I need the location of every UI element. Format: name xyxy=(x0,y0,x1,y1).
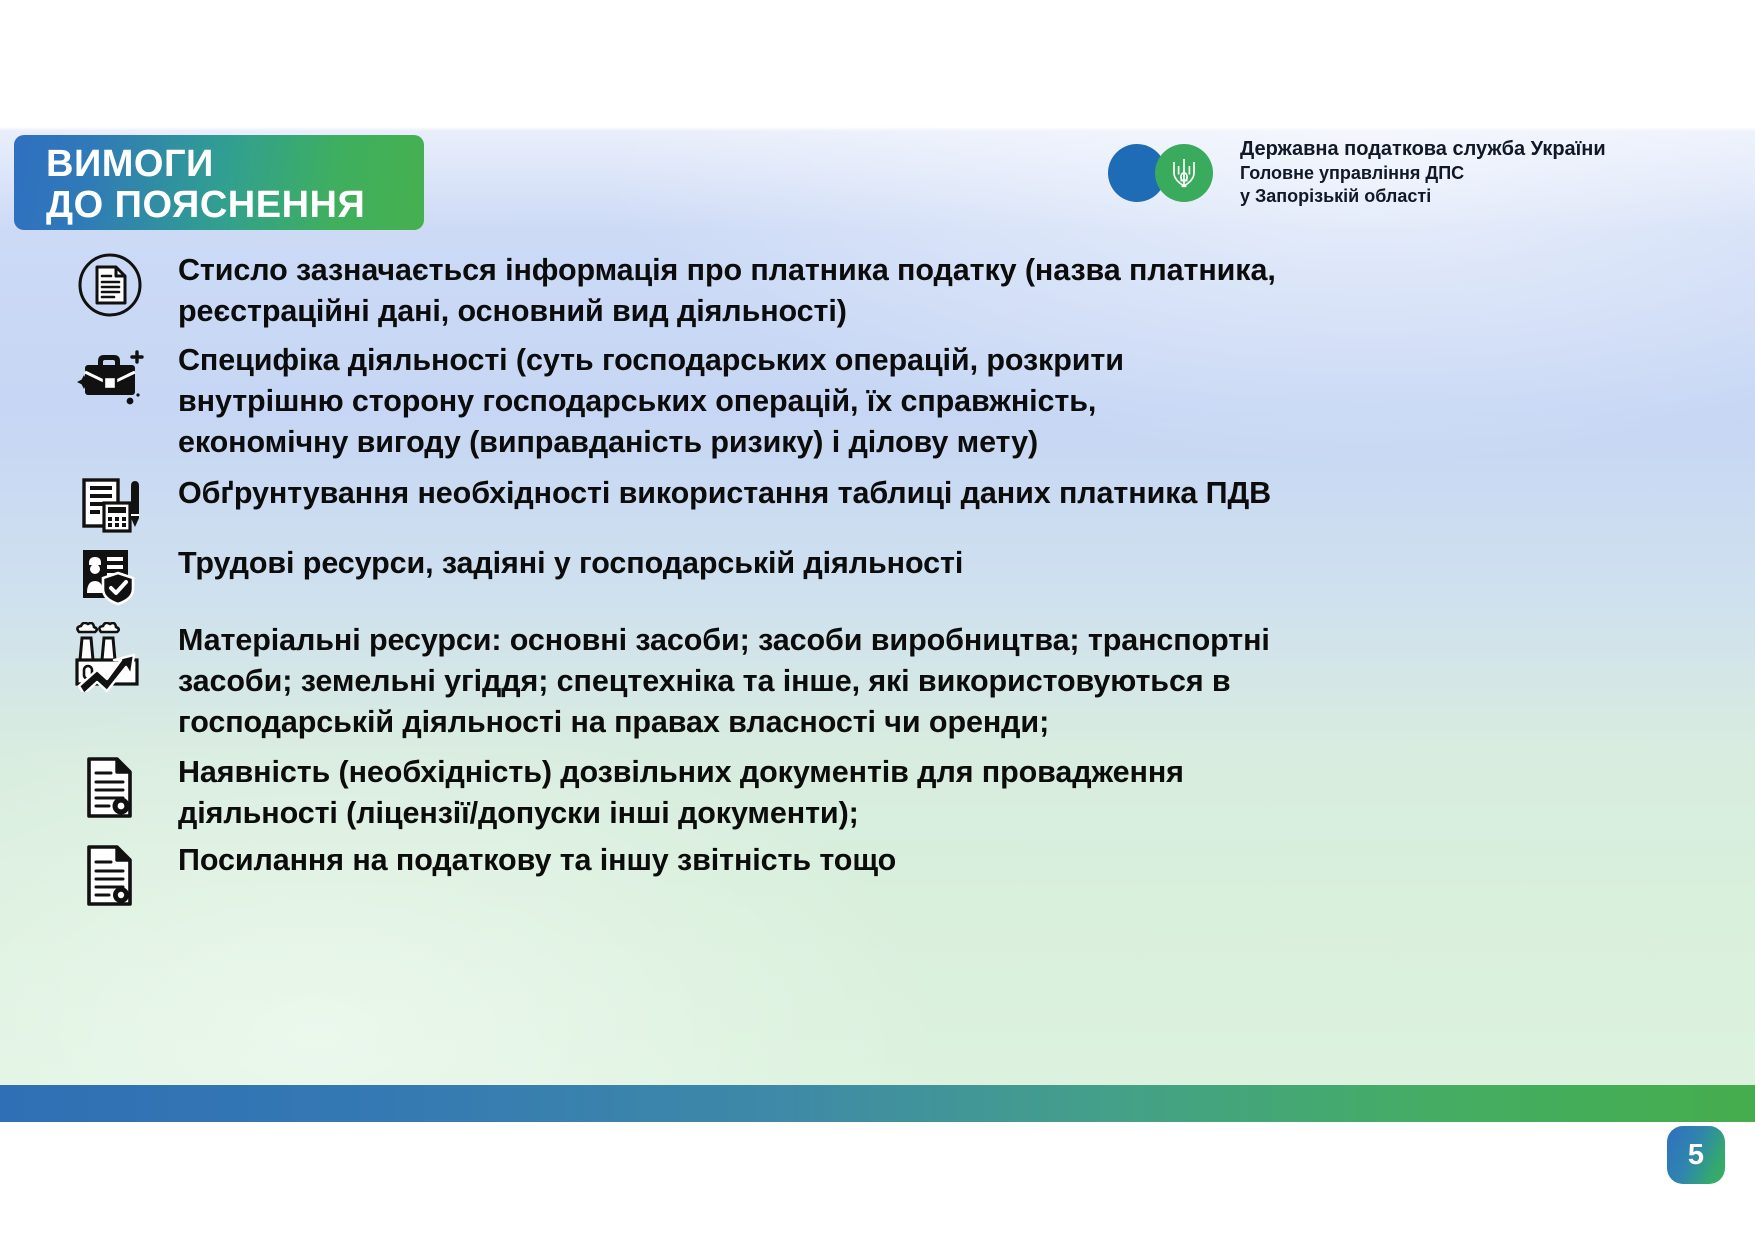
list-item-text: Матеріальні ресурси: основні засоби; зас… xyxy=(160,620,1270,743)
list-item: Наявність (необхідність) дозвільних доку… xyxy=(60,752,1700,834)
title-banner: ВИМОГИ ДО ПОЯСНЕННЯ xyxy=(14,135,424,230)
document-seal-icon xyxy=(60,752,160,820)
list-item-text: Трудові ресурси, задіяні у господарській… xyxy=(160,543,963,584)
list-item-text: Посилання на податкову та іншу звітність… xyxy=(160,840,896,881)
document-calculator-pencil-icon xyxy=(60,473,160,537)
logo-line-2: Головне управління ДПС xyxy=(1240,162,1606,185)
title-line-2: ДО ПОЯСНЕННЯ xyxy=(46,185,424,226)
logo-line-3: у Запорізькій області xyxy=(1240,185,1606,208)
title-line-1: ВИМОГИ xyxy=(46,144,424,185)
footer-bar xyxy=(0,1085,1755,1122)
briefcase-icon xyxy=(60,340,160,408)
list-item-text: Обґрунтування необхідності використання … xyxy=(160,473,1271,514)
document-circle-icon xyxy=(60,250,160,318)
slide: ВИМОГИ ДО ПОЯСНЕННЯ xyxy=(0,0,1755,1240)
report-document-icon xyxy=(60,840,160,908)
list-item: Стисло зазначається інформація про платн… xyxy=(60,250,1700,332)
list-item-text: Наявність (необхідність) дозвільних доку… xyxy=(160,752,1184,834)
list-item-text: Специфіка діяльності (суть господарських… xyxy=(160,340,1124,463)
list-item: Обґрунтування необхідності використання … xyxy=(60,473,1700,537)
organization-logo: Державна податкова служба України Головн… xyxy=(1108,137,1606,208)
list-item: Посилання на податкову та іншу звітність… xyxy=(60,840,1700,908)
logo-text-block: Державна податкова служба України Головн… xyxy=(1240,137,1606,208)
logo-line-1: Державна податкова служба України xyxy=(1240,137,1606,162)
trident-emblem-icon xyxy=(1155,144,1213,202)
list-item: Трудові ресурси, задіяні у господарській… xyxy=(60,543,1700,607)
list-item: Специфіка діяльності (суть господарських… xyxy=(60,340,1700,463)
list-item: Матеріальні ресурси: основні засоби; зас… xyxy=(60,620,1700,743)
list-item-text: Стисло зазначається інформація про платн… xyxy=(160,250,1276,332)
page-number-badge: 5 xyxy=(1667,1126,1725,1184)
logo-marks xyxy=(1108,142,1228,204)
factory-growth-arrow-icon xyxy=(60,620,160,692)
worker-shield-check-icon xyxy=(60,543,160,607)
